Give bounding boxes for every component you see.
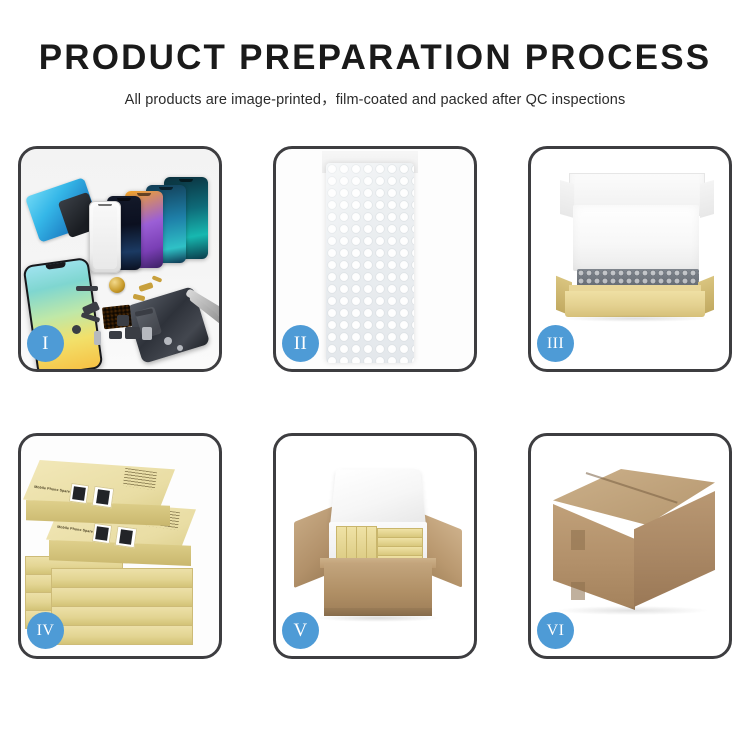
foam-lid-icon bbox=[330, 469, 427, 528]
bubble-wrap-icon bbox=[326, 163, 414, 363]
step-badge-1: I bbox=[27, 325, 64, 362]
page-subtitle: All products are image-printed，film-coat… bbox=[0, 90, 750, 110]
stacked-box bbox=[51, 587, 193, 607]
drop-shadow bbox=[561, 315, 709, 322]
notch-icon bbox=[117, 198, 131, 201]
small-part-icon bbox=[164, 337, 172, 345]
box-window-1b bbox=[92, 486, 115, 509]
process-step-card-3[interactable]: III bbox=[528, 146, 732, 372]
carton-left-face bbox=[553, 504, 635, 610]
page-title: PRODUCT PREPARATION PROCESS bbox=[0, 36, 750, 80]
process-step-card-6[interactable]: VI bbox=[528, 433, 732, 659]
vibration-motor-icon bbox=[109, 277, 125, 293]
process-step-card-5[interactable]: V bbox=[273, 433, 477, 659]
small-part-icon bbox=[142, 327, 152, 340]
foam-sheet-icon bbox=[573, 205, 699, 271]
step-badge-5: V bbox=[282, 612, 319, 649]
screen-glass-icon bbox=[89, 201, 121, 273]
step-badge-3: III bbox=[537, 325, 574, 362]
page-header: PRODUCT PREPARATION PROCESS All products… bbox=[0, 36, 750, 110]
product-preparation-process-page: PRODUCT PREPARATION PROCESS All products… bbox=[0, 0, 750, 750]
stacked-box bbox=[51, 625, 193, 645]
small-part-icon bbox=[72, 325, 81, 334]
box-window-1a bbox=[69, 483, 89, 504]
carton-front-face bbox=[324, 564, 432, 616]
drop-shadow bbox=[316, 614, 440, 622]
step-badge-2: II bbox=[282, 325, 319, 362]
stacked-box bbox=[51, 568, 193, 588]
process-step-card-2[interactable]: II bbox=[273, 146, 477, 372]
tape-strip-icon-2 bbox=[571, 582, 585, 600]
process-step-card-4[interactable]: Mobile Phone Spare Parts Mobile Phone Sp… bbox=[18, 433, 222, 659]
notch-icon bbox=[159, 187, 173, 190]
kraft-box-front bbox=[565, 291, 705, 317]
step-badge-4: IV bbox=[27, 612, 64, 649]
notch-icon bbox=[98, 204, 112, 207]
box-window-2b bbox=[115, 526, 138, 549]
stacked-box bbox=[51, 606, 193, 626]
small-part-icon bbox=[76, 286, 98, 291]
small-part-icon bbox=[177, 345, 183, 351]
process-step-grid: I II bbox=[18, 146, 732, 659]
step-badge-6: VI bbox=[537, 612, 574, 649]
notch-icon bbox=[179, 179, 193, 182]
small-part-icon bbox=[117, 315, 129, 326]
small-part-icon bbox=[125, 327, 140, 339]
tape-strip-icon bbox=[571, 530, 585, 550]
small-part-icon bbox=[94, 331, 101, 345]
small-part-icon bbox=[109, 331, 122, 339]
notch-icon bbox=[137, 193, 151, 196]
drop-shadow bbox=[557, 606, 707, 615]
box-window-2a bbox=[92, 523, 112, 544]
process-step-card-1[interactable]: I bbox=[18, 146, 222, 372]
